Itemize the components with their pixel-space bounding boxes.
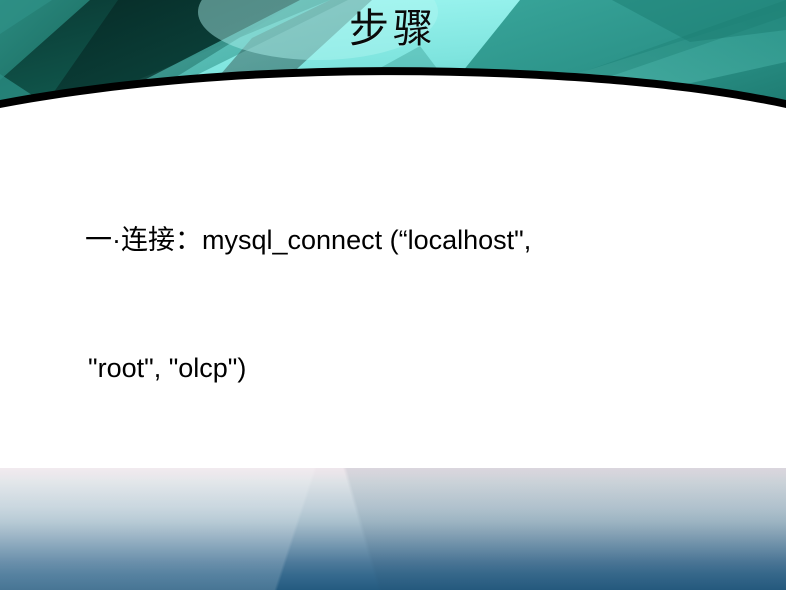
- bullet-item-2: 二·建立数据库：mysql_create_db ("my_db")): [40, 528, 746, 590]
- slide-body: 一·连接：mysql_connect (“localhost", "root",…: [40, 144, 746, 590]
- slide-title: 步骤: [0, 6, 786, 53]
- bullet-1-line-2: "root", "olcp"): [40, 336, 746, 400]
- presentation-slide: 步骤 一·连接：mysql_connect (“localhost", "roo…: [0, 0, 786, 590]
- bullet-item-1: 一·连接：mysql_connect (“localhost", "root",…: [40, 144, 746, 528]
- bullet-1-line-1: 一·连接：mysql_connect (“localhost",: [85, 225, 531, 255]
